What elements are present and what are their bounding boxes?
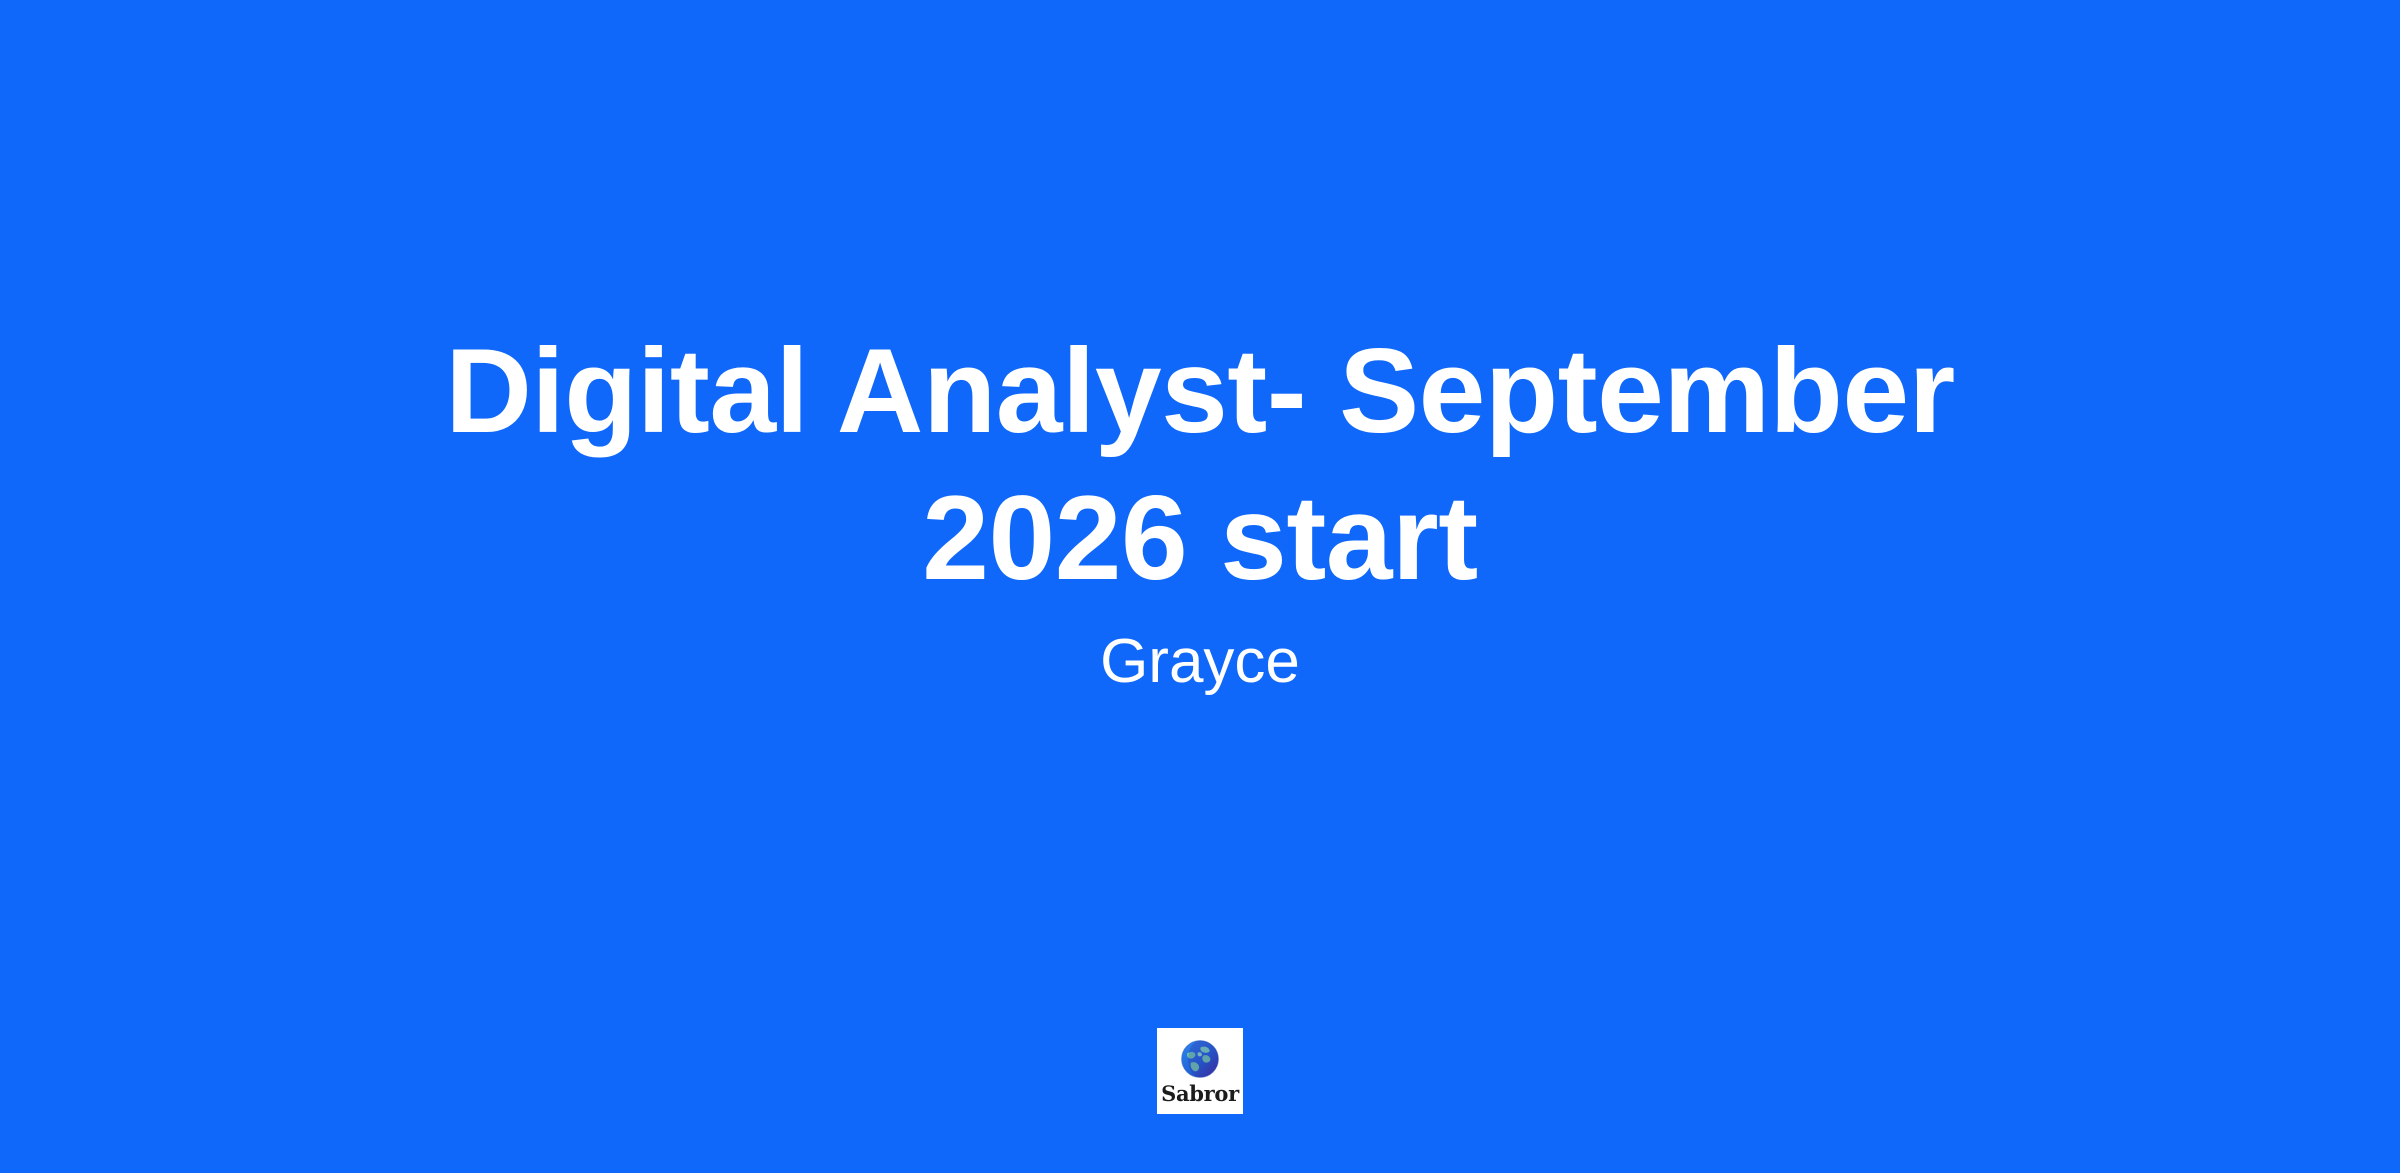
card-content: Digital Analyst- September 2026 start Gr… <box>0 0 2400 1173</box>
company-logo: Sabror <box>1157 1028 1243 1114</box>
logo-wordmark: Sabror <box>1161 1082 1239 1106</box>
company-name: Grayce <box>420 620 1980 704</box>
job-posting-card: Digital Analyst- September 2026 start Gr… <box>0 0 2400 1173</box>
globe-icon <box>1177 1036 1223 1082</box>
page-title: Digital Analyst- September 2026 start <box>420 318 1980 612</box>
